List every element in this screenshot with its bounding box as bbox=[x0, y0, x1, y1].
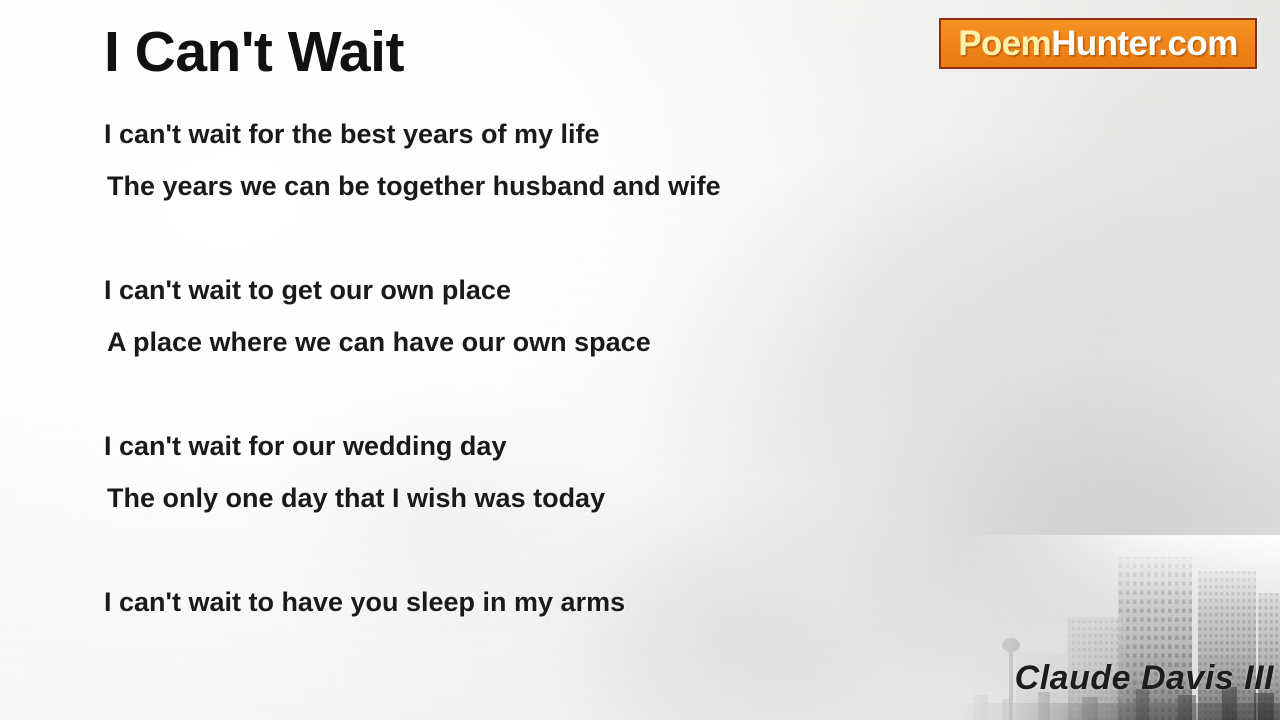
poem-line-blank bbox=[104, 368, 934, 420]
poem-image-canvas: I Can't Wait PoemHunter.com I can't wait… bbox=[0, 0, 1280, 720]
poem-author-signature: Claude Davis III bbox=[1015, 659, 1274, 698]
poem-line: I can't wait to have you sleep in my arm… bbox=[104, 576, 934, 628]
logo-text-poem: Poem bbox=[958, 24, 1051, 63]
poem-line: A place where we can have our own space bbox=[104, 316, 934, 368]
poem-line: I can't wait for the best years of my li… bbox=[104, 108, 934, 160]
logo-text: PoemHunter.com bbox=[958, 26, 1237, 61]
poem-line: I can't wait to get our own place bbox=[104, 264, 934, 316]
poem-line: The years we can be together husband and… bbox=[104, 160, 934, 212]
poem-line-blank bbox=[104, 524, 934, 576]
logo-text-hunter-com: Hunter.com bbox=[1051, 24, 1238, 63]
poem-body: I can't wait for the best years of my li… bbox=[104, 108, 934, 628]
poem-line: I can't wait for our wedding day bbox=[104, 420, 934, 472]
poemhunter-logo[interactable]: PoemHunter.com bbox=[939, 18, 1257, 69]
poem-title: I Can't Wait bbox=[104, 22, 404, 82]
poem-line: The only one day that I wish was today bbox=[104, 472, 934, 524]
poem-line-blank bbox=[104, 212, 934, 264]
